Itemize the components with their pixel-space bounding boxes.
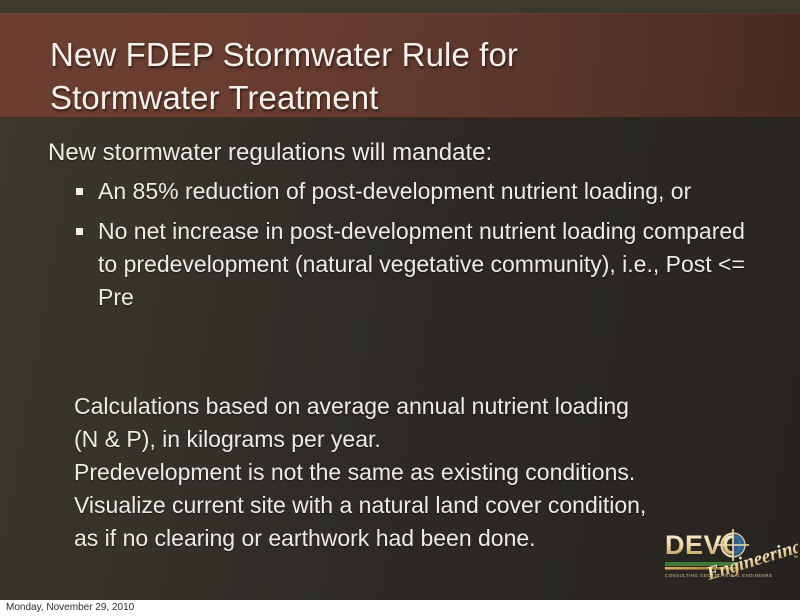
paragraph-line: Visualize current site with a natural la… — [74, 489, 774, 522]
square-bullet-icon — [76, 188, 83, 195]
slide-canvas: New FDEP Stormwater Rule for Stormwater … — [0, 0, 800, 600]
lead-statement: New stormwater regulations will mandate: — [48, 137, 492, 169]
paragraph-line: Predevelopment is not the same as existi… — [74, 456, 774, 489]
devo-logo-graphic: DEVO CONSULTING GEOTECHNICAL ENGINEERS E… — [663, 524, 798, 596]
devo-engineering-logo: DEVO CONSULTING GEOTECHNICAL ENGINEERS E… — [663, 524, 798, 596]
footer-date: Monday, November 29, 2010 — [6, 601, 134, 615]
slide-title: New FDEP Stormwater Rule for Stormwater … — [50, 33, 750, 119]
list-item-label: No net increase in post-development nutr… — [98, 215, 758, 314]
paragraph-line: (N & P), in kilograms per year. — [74, 423, 774, 456]
list-item: No net increase in post-development nutr… — [74, 215, 774, 314]
presentation-slide: New FDEP Stormwater Rule for Stormwater … — [0, 0, 800, 616]
paragraph-line: Calculations based on average annual nut… — [74, 390, 774, 423]
bullet-list: An 85% reduction of post-development nut… — [74, 175, 774, 321]
slide-title-bar: New FDEP Stormwater Rule for Stormwater … — [0, 13, 800, 118]
list-item: An 85% reduction of post-development nut… — [74, 175, 774, 208]
slide-top-band — [0, 0, 800, 13]
list-item-label: An 85% reduction of post-development nut… — [98, 175, 758, 208]
square-bullet-icon — [76, 228, 83, 235]
